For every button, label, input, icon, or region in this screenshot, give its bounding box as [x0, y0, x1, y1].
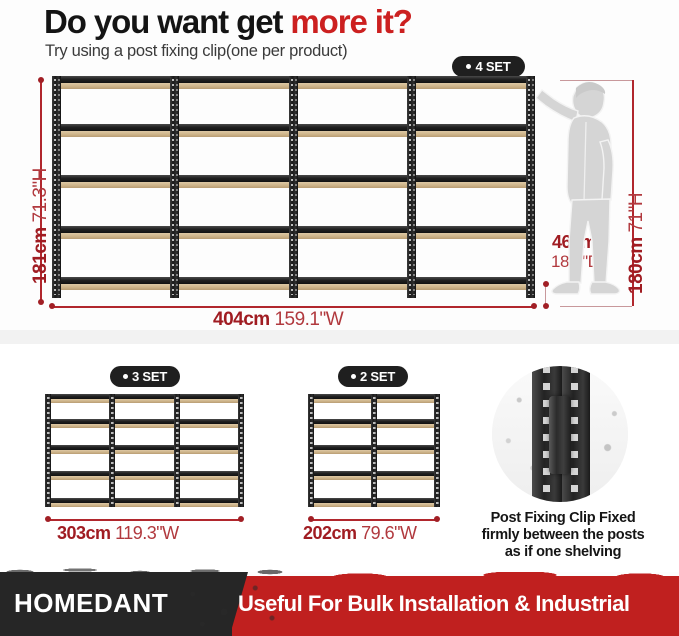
dim-width-cm: 404cm: [213, 309, 270, 330]
infographic-page: Do you want get more it? Try using a pos…: [0, 0, 679, 636]
dim-2-set-cm: 202cm: [303, 523, 357, 543]
rack-board: [45, 476, 244, 480]
rack-beam: [45, 419, 244, 424]
rack-beam: [45, 445, 244, 450]
rack-post: [109, 394, 115, 507]
clip-caption: Post Fixing Clip Fixed firmly between th…: [468, 510, 658, 561]
clip-post-perforations: [571, 366, 578, 502]
shelving-rack-2-set: [308, 394, 440, 507]
headline-red-part: more it?: [290, 3, 411, 40]
clip-photo: [492, 366, 628, 502]
post-fixing-clip: [549, 396, 571, 474]
badge-dot-icon: [123, 374, 128, 379]
rack-post: [45, 394, 51, 507]
person-icon: [536, 74, 628, 310]
badge-4-set-label: 4 SET: [475, 59, 510, 74]
dim-endpoint-dot: [308, 516, 314, 522]
shelving-rack-3-set: [45, 394, 244, 507]
dim-label-main-height: 181cm 71.3"H: [30, 168, 52, 284]
rack-post: [308, 394, 314, 507]
badge-dot-icon: [466, 64, 471, 69]
headline-black-part: Do you want get: [44, 3, 290, 40]
badge-2-set-label: 2 SET: [360, 369, 395, 384]
clip-caption-line-1: Post Fixing Clip Fixed: [468, 510, 658, 527]
rack-post: [526, 76, 535, 298]
secondary-panel: 3 SET 303cm 119.3"W 2 S: [0, 344, 679, 572]
rack-post: [289, 76, 298, 298]
footer-bar: HOMEDANT Useful For Bulk Installation & …: [0, 572, 679, 636]
page-subtitle: Try using a post fixing clip(one per pro…: [45, 42, 347, 61]
dim-endpoint-dot: [38, 77, 44, 83]
badge-dot-icon: [351, 374, 356, 379]
rack-post: [174, 394, 180, 507]
dim-line-2-set-width: [311, 519, 437, 521]
badge-2-set: 2 SET: [338, 366, 408, 387]
brand-logo: HOMEDANT: [14, 588, 214, 618]
dim-endpoint-dot: [238, 516, 244, 522]
badge-4-set: 4 SET: [452, 56, 525, 77]
rack-post: [238, 394, 244, 507]
rack-post: [371, 394, 377, 507]
rack-board: [45, 424, 244, 428]
rack-beam: [45, 394, 244, 399]
person-silhouette: [536, 74, 628, 310]
rack-board: [45, 399, 244, 403]
dim-width-in: 159.1"W: [274, 309, 343, 330]
rack-beam: [45, 471, 244, 476]
badge-3-set: 3 SET: [110, 366, 180, 387]
clip-caption-line-2: firmly between the posts: [468, 527, 658, 544]
rack-post: [407, 76, 416, 298]
shelving-rack-4-set: [52, 76, 535, 298]
main-unit-panel: 4 SET: [0, 62, 679, 330]
dim-person-in: 71"H: [626, 193, 647, 233]
dim-line-width-bottom: [52, 306, 535, 308]
dim-endpoint-dot: [434, 516, 440, 522]
dim-line-3-set-width: [48, 519, 241, 521]
dim-endpoint-dot: [38, 299, 44, 305]
dim-label-person-height: 180cm 71"H: [626, 193, 648, 294]
dim-height-in: 71.3"H: [30, 168, 51, 222]
dim-person-cm: 180cm: [626, 237, 647, 294]
badge-3-set-label: 3 SET: [132, 369, 167, 384]
rack-post: [434, 394, 440, 507]
dim-endpoint-dot: [49, 303, 55, 309]
clip-caption-line-3: as if one shelving: [468, 544, 658, 561]
rack-post: [170, 76, 179, 298]
dim-3-set-cm: 303cm: [57, 523, 111, 543]
page-title: Do you want get more it?: [44, 2, 644, 42]
rack-post: [52, 76, 61, 298]
rack-board: [45, 503, 244, 507]
dim-3-set-in: 119.3"W: [115, 523, 179, 543]
rack-board: [45, 450, 244, 454]
dim-label-3-set-width: 303cm 119.3"W: [57, 523, 179, 544]
footer-tagline: Useful For Bulk Installation & Industria…: [238, 589, 629, 619]
rack-beam: [45, 498, 244, 503]
dim-label-2-set-width: 202cm 79.6"W: [303, 523, 417, 544]
dim-height-cm: 181cm: [30, 227, 51, 284]
section-divider: [0, 330, 679, 344]
dim-2-set-in: 79.6"W: [361, 523, 416, 543]
dim-endpoint-dot: [45, 516, 51, 522]
dim-label-main-width: 404cm 159.1"W: [213, 309, 343, 331]
